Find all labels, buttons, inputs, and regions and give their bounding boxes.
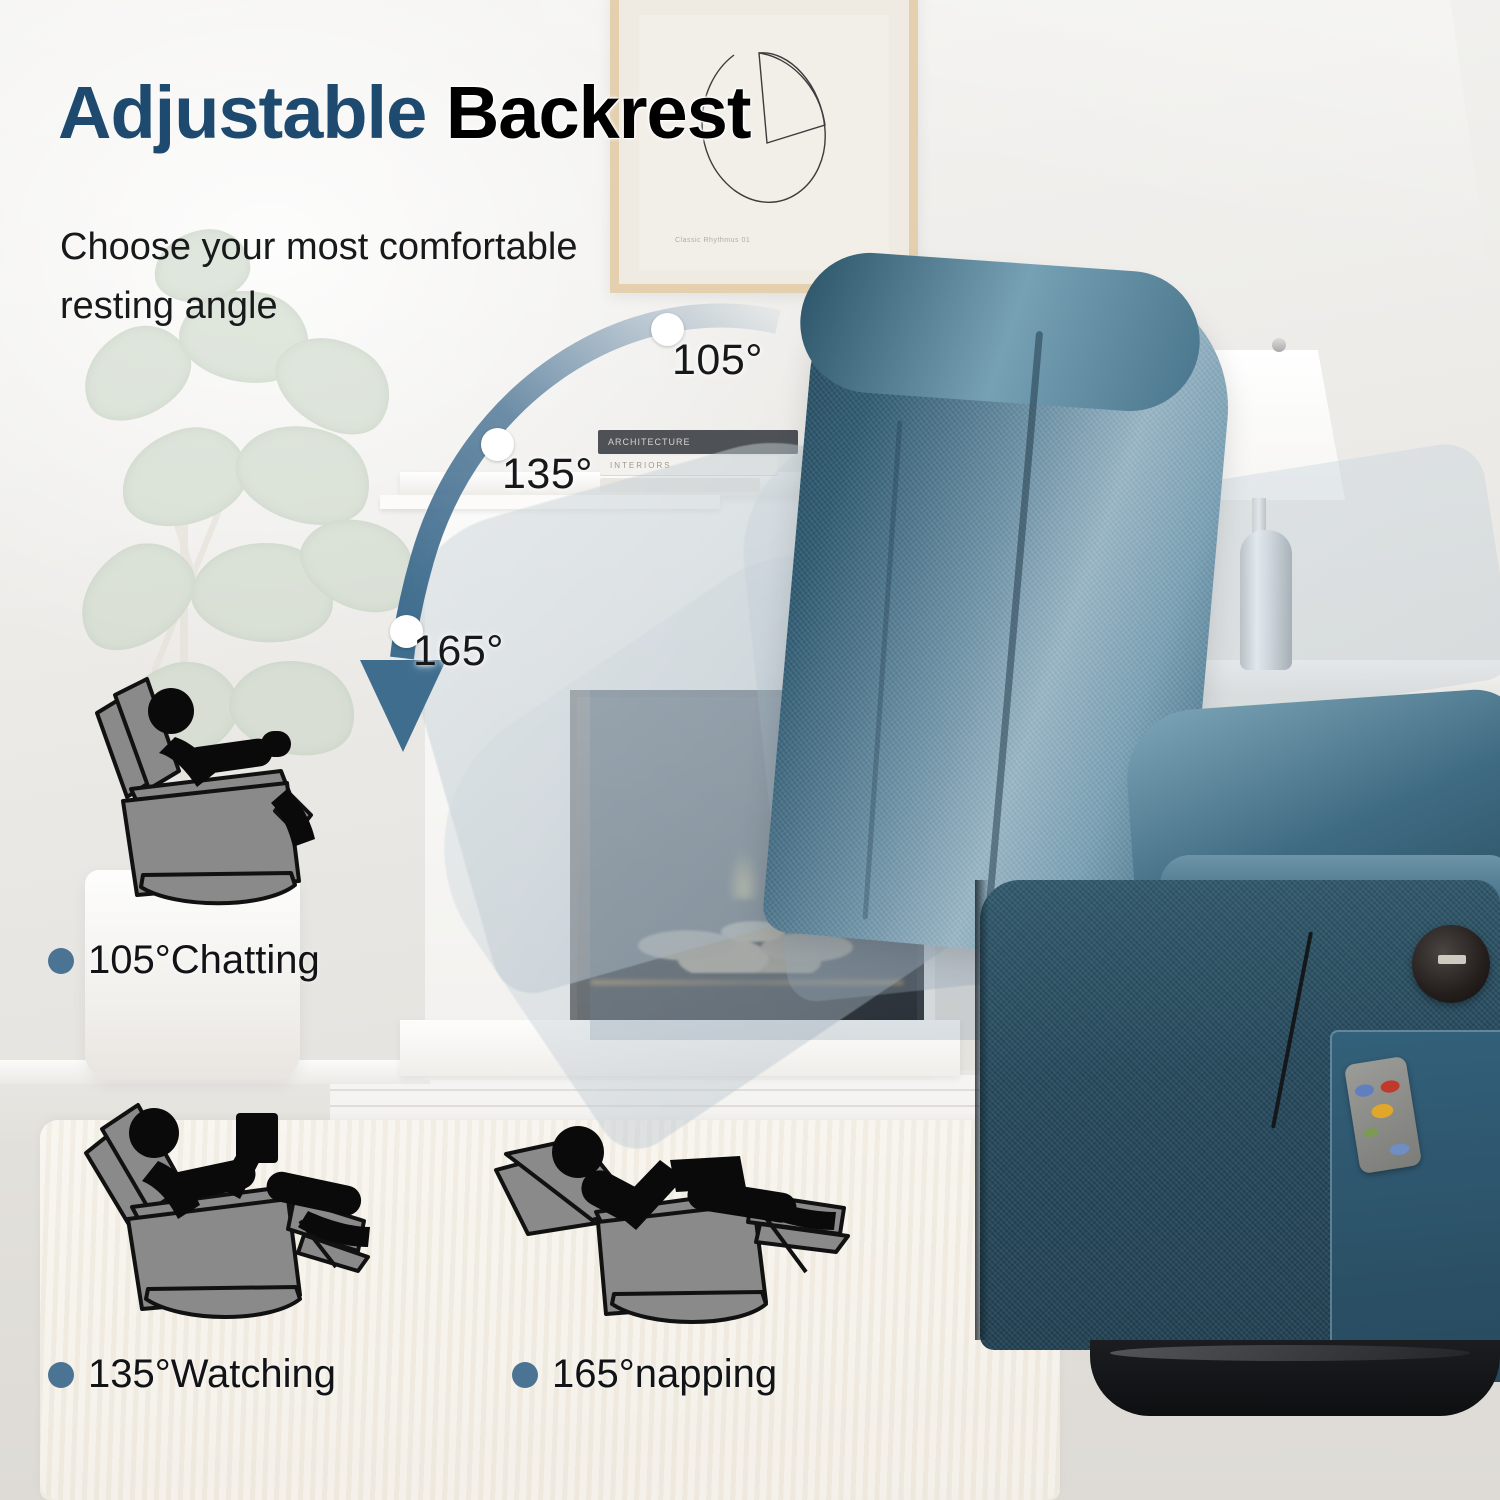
lamp-finial: [1272, 338, 1286, 352]
usb-port[interactable]: [1412, 925, 1490, 1003]
title-word-backrest: Backrest: [446, 71, 751, 154]
angle-marker-165-label: 165°: [413, 627, 504, 676]
remote-button-red[interactable]: [1380, 1079, 1401, 1094]
remote-button-yellow[interactable]: [1370, 1102, 1394, 1119]
caption-165-label: 165°napping: [552, 1352, 777, 1397]
title-word-adjustable: Adjustable: [58, 71, 426, 154]
remote-button-blue-2[interactable]: [1389, 1142, 1410, 1156]
caption-bullet-icon: [48, 948, 74, 974]
caption-105-chatting: 105°Chatting: [48, 938, 320, 983]
caption-bullet-icon: [512, 1362, 538, 1388]
page-subtitle: Choose your most comfortable resting ang…: [60, 218, 660, 336]
recliner-headrest-roll: [796, 248, 1205, 416]
pictogram-135-watching: [72, 1095, 412, 1335]
product-infographic: Classic Rhythmus 01 ARCHITECTURE INTERIO…: [0, 0, 1500, 1500]
caption-135-label: 135°Watching: [88, 1352, 336, 1397]
remote-button-blue[interactable]: [1354, 1083, 1375, 1098]
caption-105-label: 105°Chatting: [88, 938, 320, 983]
caption-bullet-icon: [48, 1362, 74, 1388]
page-title: Adjustable Backrest: [58, 70, 751, 155]
recliner-base-highlight: [1110, 1345, 1470, 1361]
angle-marker-105-label: 105°: [672, 336, 763, 385]
art-caption: Classic Rhythmus 01: [675, 237, 750, 244]
remote-button-green[interactable]: [1363, 1127, 1379, 1138]
pictogram-165-napping: [484, 1112, 864, 1337]
caption-165-napping: 165°napping: [512, 1352, 777, 1397]
angle-arc-arrow: [330, 260, 850, 780]
caption-135-watching: 135°Watching: [48, 1352, 336, 1397]
angle-marker-135-label: 135°: [502, 450, 593, 499]
usb-slot-icon: [1438, 955, 1466, 964]
pictogram-105-chatting: [75, 665, 405, 925]
recliner-left-edge-shadow: [975, 880, 989, 1340]
